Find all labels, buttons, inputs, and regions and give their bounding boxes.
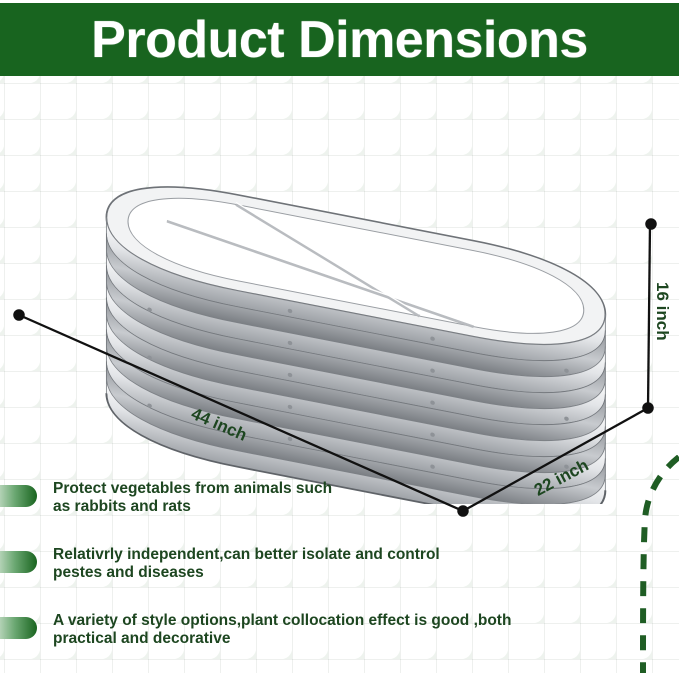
product-dimensions-infographic: Product Dimensions [0,0,679,673]
page-title: Product Dimensions [91,12,588,68]
feature-text: Protect vegetables from animals such as … [53,478,332,515]
feature-text: A variety of style options,plant colloca… [53,610,511,647]
header-banner: Product Dimensions [0,3,679,76]
list-item: A variety of style options,plant colloca… [0,610,679,673]
bullet-pill-icon [0,551,37,573]
feature-text: Relativrly independent,can better isolat… [53,544,440,581]
list-item: Protect vegetables from animals such as … [0,478,679,544]
bullet-pill-icon [0,485,37,507]
feature-list: Protect vegetables from animals such as … [0,478,679,673]
product-illustration [6,84,656,504]
list-item: Relativrly independent,can better isolat… [0,544,679,610]
dimension-label-height: 16 inch [652,282,672,341]
bullet-pill-icon [0,617,37,639]
